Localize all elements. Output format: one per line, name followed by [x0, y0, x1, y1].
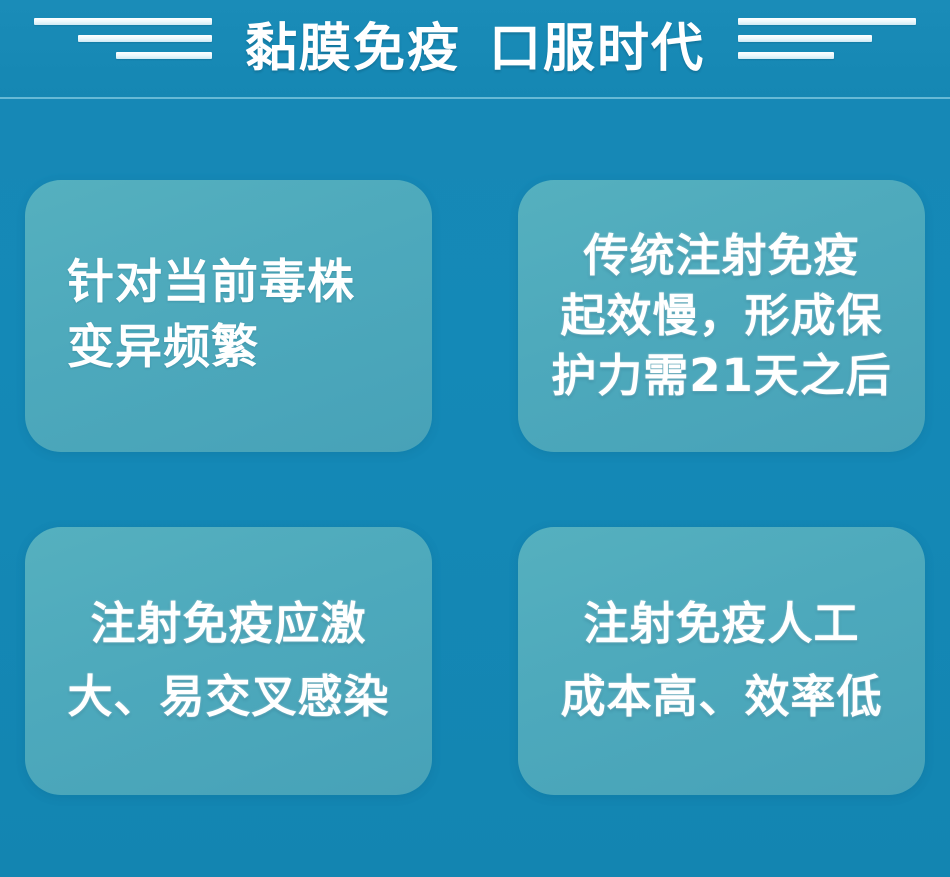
deco-line-medium-icon: [738, 35, 872, 42]
page-title-part-2: 口服时代: [489, 23, 705, 75]
deco-line-medium-icon: [78, 35, 212, 42]
deco-line-short-icon: [116, 52, 212, 59]
header-decoration-left: [16, 18, 212, 78]
promotional-poster: 黏膜免疫 口服时代 针对当前毒株 变异频繁 传统注射免疫 起效慢，形成保 护力需…: [0, 0, 950, 877]
card-injection-cost-efficiency: 注射免疫人工 成本高、效率低: [518, 527, 925, 795]
card-text: 针对当前毒株 变异频繁: [25, 251, 432, 381]
header-divider: [0, 97, 950, 99]
feature-card-grid: 针对当前毒株 变异频繁 传统注射免疫 起效慢，形成保 护力需21天之后 注射免疫…: [25, 180, 925, 795]
deco-line-long-icon: [34, 18, 212, 25]
deco-line-short-icon: [738, 52, 834, 59]
card-text: 注射免疫人工 成本高、效率低: [518, 588, 925, 734]
card-injection-slow-onset: 传统注射免疫 起效慢，形成保 护力需21天之后: [518, 180, 925, 452]
card-current-strain-mutation: 针对当前毒株 变异频繁: [25, 180, 432, 452]
page-title-part-1: 黏膜免疫: [245, 23, 461, 75]
header-banner: 黏膜免疫 口服时代: [0, 0, 950, 98]
page-title: 黏膜免疫 口服时代: [245, 23, 705, 75]
header-decoration-right: [738, 18, 934, 78]
card-text: 注射免疫应激 大、易交叉感染: [25, 588, 432, 734]
card-text: 传统注射免疫 起效慢，形成保 护力需21天之后: [518, 226, 925, 406]
deco-line-long-icon: [738, 18, 916, 25]
card-injection-stress-crossinfection: 注射免疫应激 大、易交叉感染: [25, 527, 432, 795]
